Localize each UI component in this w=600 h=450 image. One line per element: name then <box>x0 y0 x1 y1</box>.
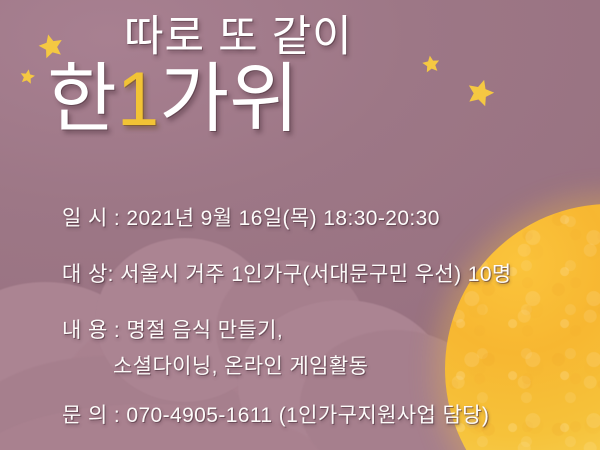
headline-group: 따로 또 같이 한1가위 <box>0 0 600 175</box>
detail-line-content-cont: 소셜다이닝, 온라인 게임활동 <box>113 356 368 377</box>
detail-line-date: 일 시 : 2021년 9월 16일(목) 18:30-20:30 <box>62 208 440 229</box>
title-suffix: 가위 <box>159 57 299 142</box>
title-accent-number: 1 <box>117 57 159 142</box>
title-prefix: 한 <box>47 57 117 142</box>
detail-line-contact: 문 의 : 070-4905-1611 (1인가구지원사업 담당) <box>62 405 489 426</box>
poster-canvas: 따로 또 같이 한1가위 일 시 : 2021년 9월 16일(목) 18:30… <box>0 0 600 450</box>
detail-line-audience: 대 상: 서울시 거주 1인가구(서대문구민 우선) 10명 <box>62 264 512 285</box>
poster-title: 한1가위 <box>47 62 299 138</box>
detail-line-content: 내 용 : 명절 음식 만들기, <box>62 320 283 341</box>
poster-subtitle: 따로 또 같이 <box>124 16 353 59</box>
